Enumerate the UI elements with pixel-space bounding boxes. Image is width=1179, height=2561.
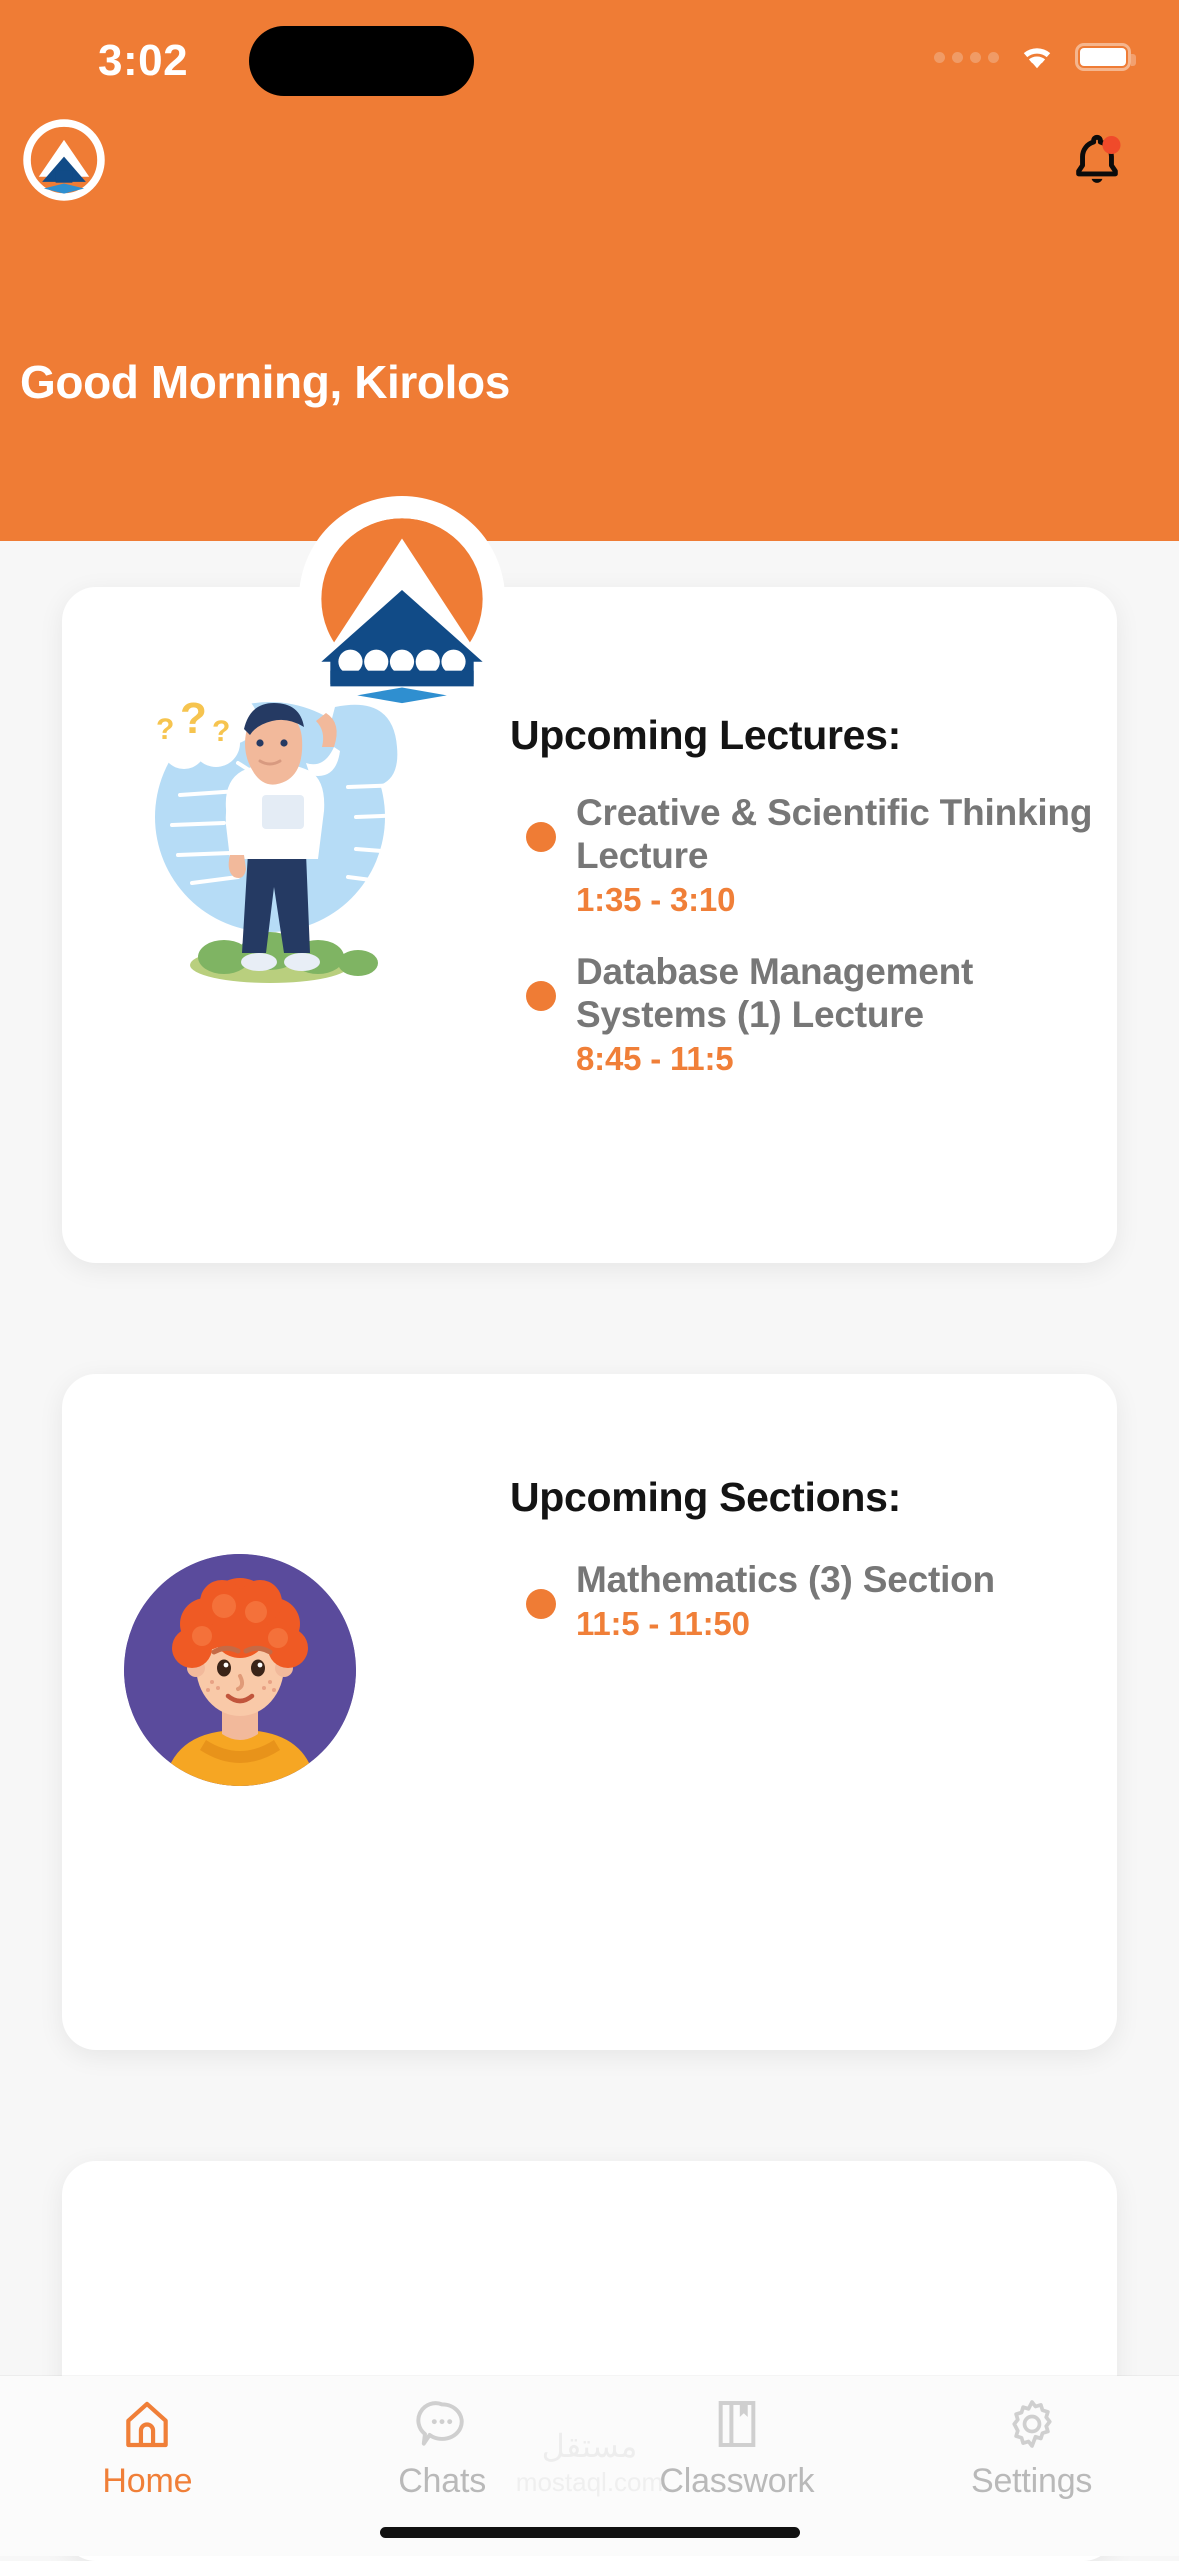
mostaql-watermark: مستقل mostaql.com [0, 2427, 1179, 2498]
lectures-list: Creative & Scientific Thinking Lecture 1… [514, 792, 1094, 1110]
lecture-name: Database Management Systems (1) Lecture [576, 951, 1094, 1037]
notifications-button[interactable] [1057, 120, 1137, 200]
bullet-dot-icon [526, 822, 556, 852]
confused-man-illustration: ? ? ? [120, 667, 420, 987]
greeting-text: Good Morning, Kirolos [20, 355, 510, 409]
wifi-icon [1017, 42, 1057, 72]
list-item[interactable]: Database Management Systems (1) Lecture … [514, 951, 1094, 1078]
bullet-dot-icon [526, 981, 556, 1011]
upcoming-sections-card[interactable]: Upcoming Sections: Mathematics (3) Secti… [62, 1374, 1117, 2050]
lecture-time: 8:45 - 11:5 [576, 1040, 1094, 1078]
battery-full-icon [1075, 43, 1131, 71]
dynamic-island [249, 26, 474, 96]
bullet-dot-icon [526, 1589, 556, 1619]
signal-dots-icon [934, 52, 999, 63]
status-bar: 3:02 [0, 0, 1179, 110]
watermark-arabic: مستقل [0, 2427, 1179, 2465]
list-item[interactable]: Creative & Scientific Thinking Lecture 1… [514, 792, 1094, 919]
watermark-latin: mostaql.com [0, 2467, 1179, 2498]
svg-text:?: ? [156, 713, 174, 746]
section-name: Mathematics (3) Section [576, 1559, 1094, 1602]
card-title: Upcoming Lectures: [510, 712, 901, 759]
lecture-name: Creative & Scientific Thinking Lecture [576, 792, 1094, 878]
status-bar-icons [934, 42, 1131, 72]
upcoming-lectures-card[interactable]: ? ? ? [62, 587, 1117, 1263]
bell-icon [1066, 129, 1128, 191]
university-logo-icon [290, 487, 514, 711]
list-item[interactable]: Mathematics (3) Section 11:5 - 11:50 [514, 1559, 1094, 1643]
section-time: 11:5 - 11:50 [576, 1605, 1094, 1643]
lecture-time: 1:35 - 3:10 [576, 881, 1094, 919]
app-bar [0, 110, 1179, 240]
sections-list: Mathematics (3) Section 11:5 - 11:50 [514, 1559, 1094, 1675]
red-haired-avatar [124, 1554, 356, 1786]
status-bar-time: 3:02 [98, 36, 188, 86]
home-indicator[interactable] [380, 2527, 800, 2538]
svg-text:?: ? [212, 715, 230, 748]
card-title: Upcoming Sections: [510, 1474, 901, 1521]
university-logo-icon [22, 118, 106, 202]
svg-text:?: ? [180, 694, 207, 743]
